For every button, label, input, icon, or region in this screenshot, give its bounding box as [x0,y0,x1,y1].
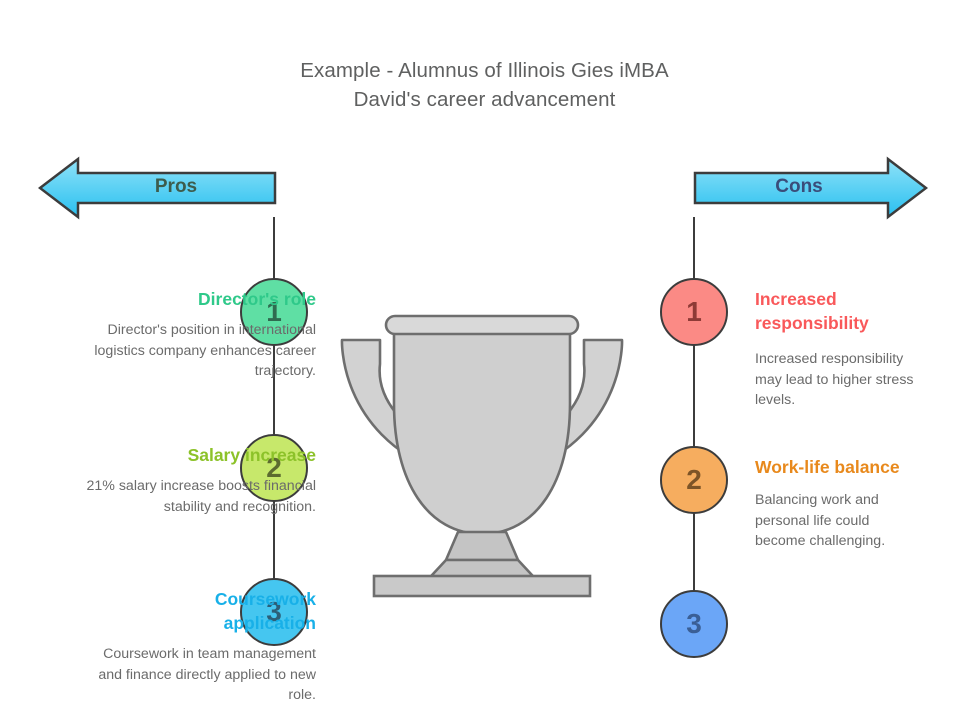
pros-arrow-banner[interactable]: Pros [38,156,278,220]
page-title: Example - Alumnus of Illinois Gies iMBA … [0,56,969,114]
pros-entry-heading-3: Coursework application [126,587,316,635]
trophy-icon [336,312,628,602]
pros-entry-body-2: 21% salary increase boosts financial sta… [86,476,316,517]
cons-node-circle-3[interactable]: 3 [660,590,728,658]
cons-arrow-label: Cons [692,156,928,218]
cons-node-circle-2[interactable]: 2 [660,446,728,514]
cons-entry-1: Increased responsibility Increased respo… [755,287,930,411]
pros-entry-body-3: Coursework in team management and financ… [86,644,316,706]
pros-entry-body-1: Director's position in international log… [86,320,316,382]
diagram-canvas: Example - Alumnus of Illinois Gies iMBA … [0,0,969,728]
pros-entry-1: Director's role Director's position in i… [86,287,316,382]
pros-entry-2: Salary increase 21% salary increase boos… [86,443,316,517]
cons-entry-body-2: Balancing work and personal life could b… [755,490,920,552]
cons-node-circle-1[interactable]: 1 [660,278,728,346]
page-title-line-1: Example - Alumnus of Illinois Gies iMBA [0,56,969,85]
pros-entry-heading-1: Director's role [86,287,316,311]
pros-entry-heading-2: Salary increase [86,443,316,467]
pros-timeline-spine [273,217,275,613]
cons-node-number-3: 3 [686,608,702,640]
cons-entry-3 [755,599,969,608]
cons-node-number-2: 2 [686,464,702,496]
page-title-line-2: David's career advancement [0,85,969,114]
cons-entry-heading-1: Increased responsibility [755,287,930,335]
cons-entry-2: Work-life balance Balancing work and per… [755,455,969,552]
pros-entry-3: Coursework application Coursework in tea… [126,587,316,706]
cons-arrow-banner[interactable]: Cons [692,156,928,220]
pros-arrow-label: Pros [38,156,278,218]
cons-entry-heading-2: Work-life balance [755,455,969,479]
cons-entry-body-1: Increased responsibility may lead to hig… [755,349,930,411]
cons-node-number-1: 1 [686,296,702,328]
